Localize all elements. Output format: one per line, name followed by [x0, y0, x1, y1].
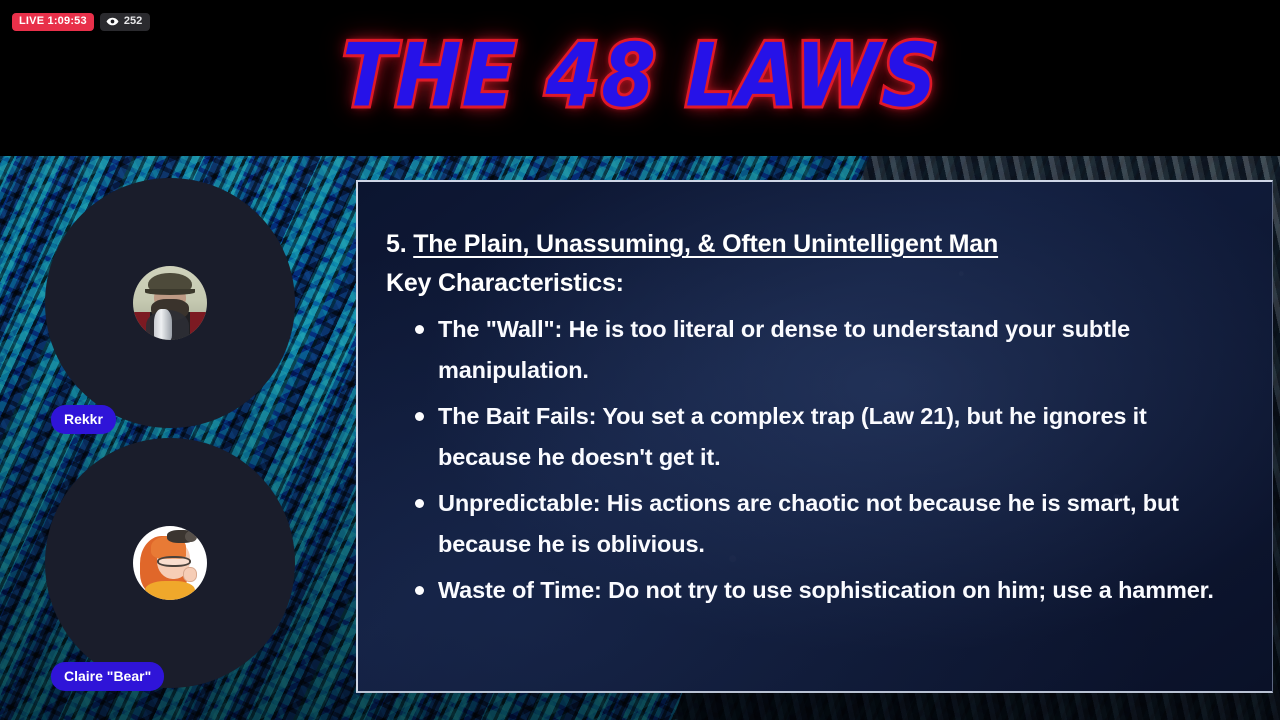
list-item: The "Wall": He is too literal or dense t… — [386, 309, 1242, 391]
bullet-text: The Bait Fails: You set a complex trap (… — [438, 403, 1147, 470]
slide-heading: 5. The Plain, Unassuming, & Often Uninte… — [386, 230, 1242, 258]
live-badge: LIVE 1:09:53 — [12, 13, 94, 30]
slide-subheading: Key Characteristics: — [386, 269, 1242, 297]
top-bar: LIVE 1:09:53 252 THE 48 LAWS — [0, 0, 1280, 156]
list-item: Waste of Time: Do not try to use sophist… — [386, 570, 1242, 611]
avatar-cap-brim — [145, 289, 195, 295]
bullet-dot-icon — [415, 412, 424, 421]
avatar — [133, 266, 207, 340]
list-item: Unpredictable: His actions are chaotic n… — [386, 483, 1242, 565]
goggles-icon — [167, 530, 195, 543]
bullet-text: The "Wall": He is too literal or dense t… — [438, 316, 1130, 383]
show-title-text: THE 48 LAWS — [340, 25, 941, 126]
bullet-dot-icon — [415, 499, 424, 508]
slide-heading-number: 5. — [386, 230, 413, 258]
glasses-icon — [157, 556, 191, 567]
slide-bullet-list: The "Wall": He is too literal or dense t… — [386, 309, 1242, 611]
bullet-dot-icon — [415, 325, 424, 334]
eye-icon — [106, 15, 119, 28]
presentation-slide: 5. The Plain, Unassuming, & Often Uninte… — [356, 180, 1273, 693]
webcam-circle-rekkr[interactable] — [45, 178, 295, 428]
microphone-icon — [154, 309, 172, 340]
viewer-count-value: 252 — [124, 15, 142, 27]
list-item: The Bait Fails: You set a complex trap (… — [386, 396, 1242, 478]
stream-screen: Rekkr Claire "Bear" 5. The Plain, Unassu… — [0, 0, 1280, 720]
bullet-text: Waste of Time: Do not try to use sophist… — [438, 577, 1214, 603]
slide-heading-title: The Plain, Unassuming, & Often Unintelli… — [413, 230, 998, 258]
name-tag-claire: Claire "Bear" — [51, 662, 164, 691]
avatar — [133, 526, 207, 600]
avatar-hand — [183, 567, 197, 582]
stream-status-row: LIVE 1:09:53 252 — [12, 13, 150, 31]
bullet-dot-icon — [415, 586, 424, 595]
viewer-count-badge: 252 — [100, 13, 150, 31]
slide-content: 5. The Plain, Unassuming, & Often Uninte… — [358, 182, 1272, 611]
name-tag-rekkr: Rekkr — [51, 405, 116, 434]
webcam-circle-claire[interactable] — [45, 438, 295, 688]
avatar-shirt — [145, 581, 195, 600]
bullet-text: Unpredictable: His actions are chaotic n… — [438, 490, 1179, 557]
show-title: THE 48 LAWS — [0, 30, 1280, 122]
